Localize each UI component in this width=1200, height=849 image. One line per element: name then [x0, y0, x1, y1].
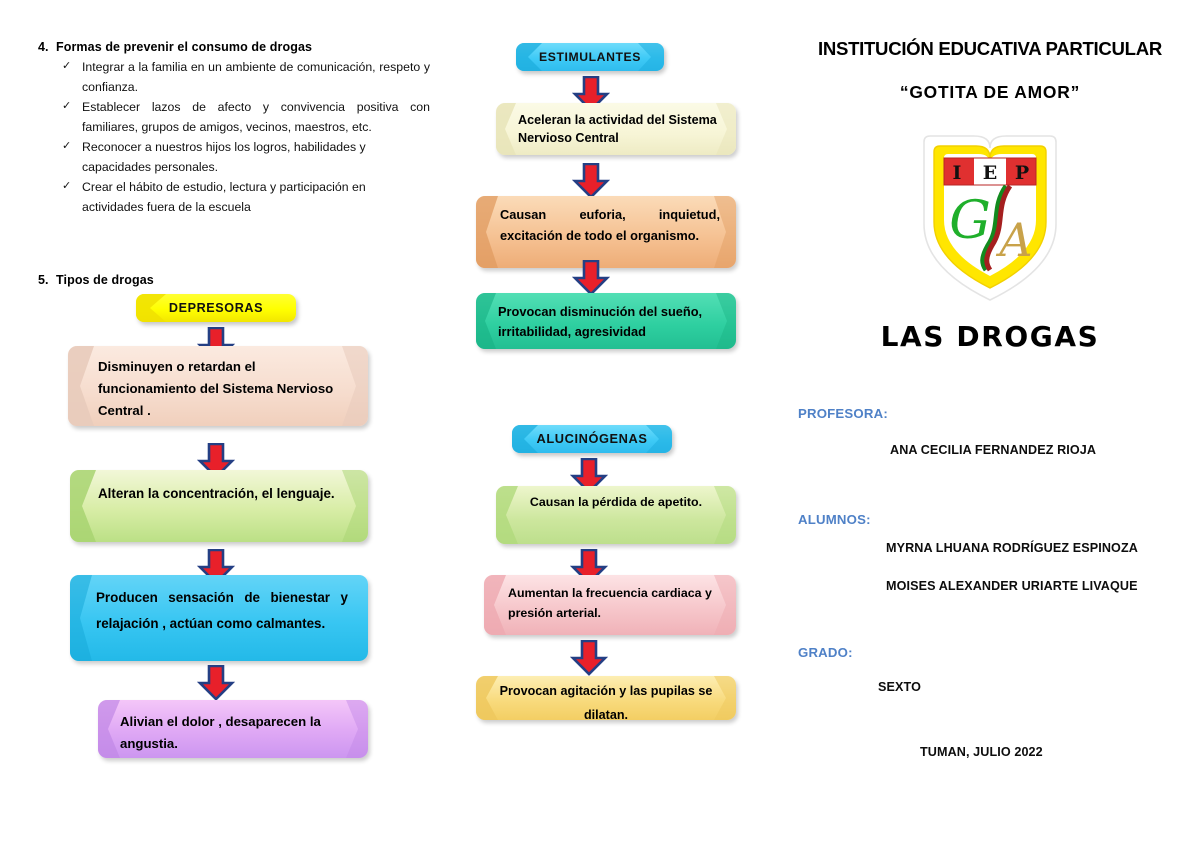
- flowbox-alucinogenas-2: Aumentan la frecuencia cardiaca y presió…: [484, 575, 736, 635]
- panel-stimulants-hallucinogens: ESTIMULANTES Aceleran la actividad del S…: [460, 0, 780, 849]
- panel-prevention-and-types: 4.Formas de prevenir el consumo de droga…: [0, 0, 460, 849]
- list-item: ✓ Integrar a la familia en un ambiente d…: [62, 58, 430, 97]
- banner-estimulantes-label: ESTIMULANTES: [539, 50, 641, 64]
- banner-depresoras: DEPRESORAS: [136, 294, 296, 322]
- value-grado-0: SEXTO: [878, 680, 921, 694]
- svg-text:G: G: [949, 191, 991, 251]
- svg-text:I: I: [953, 162, 962, 184]
- flowbox-estimulantes-2-text: Causan euforia, inquietud, excitación de…: [476, 196, 736, 246]
- school-logo: I E P G A: [914, 128, 1066, 308]
- section-4-title: Formas de prevenir el consumo de drogas: [56, 40, 312, 54]
- flowbox-alucinogenas-2-text: Aumentan la frecuencia cardiaca y presió…: [484, 575, 736, 623]
- banner-depresoras-label: DEPRESORAS: [169, 301, 263, 315]
- section-5-number: 5.: [38, 273, 56, 287]
- flowbox-estimulantes-3-text: Provocan disminución del sueño, irritabi…: [476, 293, 736, 342]
- check-icon: ✓: [62, 97, 71, 117]
- institution-name-line1: INSTITUCIÓN EDUCATIVA PARTICULAR: [780, 38, 1200, 60]
- flowbox-alucinogenas-3: Provocan agitación y las pupilas se dila…: [476, 676, 736, 720]
- section-4-number: 4.: [38, 40, 56, 54]
- check-icon: ✓: [62, 177, 71, 197]
- flowbox-alucinogenas-3-text: Provocan agitación y las pupilas se dila…: [476, 676, 736, 720]
- section-5-heading: 5.Tipos de drogas: [38, 273, 154, 287]
- check-icon: ✓: [62, 57, 71, 77]
- flowbox-estimulantes-1-text: Aceleran la actividad del Sistema Nervio…: [496, 103, 736, 147]
- footer-place-date: TUMAN, JULIO 2022: [920, 745, 1043, 759]
- panel-cover: INSTITUCIÓN EDUCATIVA PARTICULAR “GOTITA…: [780, 0, 1200, 849]
- page-title: LAS DROGAS: [780, 320, 1200, 353]
- check-icon: ✓: [62, 137, 71, 157]
- flowbox-depresoras-1: Disminuyen o retardan el funcionamiento …: [68, 346, 368, 426]
- flowbox-depresoras-2-text: Alteran la concentración, el lenguaje.: [70, 470, 368, 507]
- list-item: ✓ Crear el hábito de estudio, lectura y …: [62, 178, 430, 217]
- list-item-text: Integrar a la familia en un ambiente de …: [82, 60, 430, 94]
- flowbox-depresoras-4-text: Alivian el dolor , desaparecen la angust…: [98, 700, 368, 755]
- flowbox-depresoras-4: Alivian el dolor , desaparecen la angust…: [98, 700, 368, 758]
- label-grado: GRADO:: [798, 645, 853, 660]
- flowbox-depresoras-3: Producen sensación de bienestar y relaja…: [70, 575, 368, 661]
- section-5-title: Tipos de drogas: [56, 273, 154, 287]
- banner-alucinogenas: ALUCINÓGENAS: [512, 425, 672, 453]
- list-item: ✓ Reconocer a nuestros hijos los logros,…: [62, 138, 430, 177]
- flowbox-depresoras-1-text: Disminuyen o retardan el funcionamiento …: [68, 346, 368, 422]
- section-4-heading: 4.Formas de prevenir el consumo de droga…: [38, 40, 312, 54]
- list-item-text: Reconocer a nuestros hijos los logros, h…: [82, 140, 366, 174]
- banner-alucinogenas-label: ALUCINÓGENAS: [537, 431, 648, 446]
- flowbox-alucinogenas-1-text: Causan la pérdida de apetito.: [496, 486, 736, 516]
- label-alumnos: ALUMNOS:: [798, 512, 871, 527]
- arrow-down-icon: [572, 260, 610, 296]
- flowbox-estimulantes-3: Provocan disminución del sueño, irritabi…: [476, 293, 736, 349]
- value-profesora-0: ANA CECILIA FERNANDEZ RIOJA: [890, 443, 1096, 457]
- svg-text:P: P: [1015, 162, 1029, 184]
- arrow-down-icon: [197, 665, 235, 701]
- list-item: ✓ Establecer lazos de afecto y convivenc…: [62, 98, 430, 137]
- flowbox-alucinogenas-1: Causan la pérdida de apetito.: [496, 486, 736, 544]
- svg-text:E: E: [983, 162, 997, 184]
- arrow-down-icon: [570, 640, 608, 676]
- flowbox-depresoras-3-text: Producen sensación de bienestar y relaja…: [70, 575, 368, 637]
- svg-text:A: A: [995, 213, 1032, 267]
- label-profesora: PROFESORA:: [798, 406, 888, 421]
- flowbox-depresoras-2: Alteran la concentración, el lenguaje.: [70, 470, 368, 542]
- list-item-text: Establecer lazos de afecto y convivencia…: [82, 100, 430, 134]
- prevention-bullet-list: ✓ Integrar a la familia en un ambiente d…: [62, 58, 430, 218]
- value-alumnos-1: MOISES ALEXANDER URIARTE LIVAQUE: [886, 579, 1138, 593]
- arrow-down-icon: [572, 163, 610, 199]
- flowbox-estimulantes-2: Causan euforia, inquietud, excitación de…: [476, 196, 736, 268]
- list-item-text: Crear el hábito de estudio, lectura y pa…: [82, 180, 366, 214]
- banner-estimulantes: ESTIMULANTES: [516, 43, 664, 71]
- flowbox-estimulantes-1: Aceleran la actividad del Sistema Nervio…: [496, 103, 736, 155]
- value-alumnos-0: MYRNA LHUANA RODRÍGUEZ ESPINOZA: [886, 541, 1138, 555]
- institution-name-line2: “GOTITA DE AMOR”: [780, 82, 1200, 103]
